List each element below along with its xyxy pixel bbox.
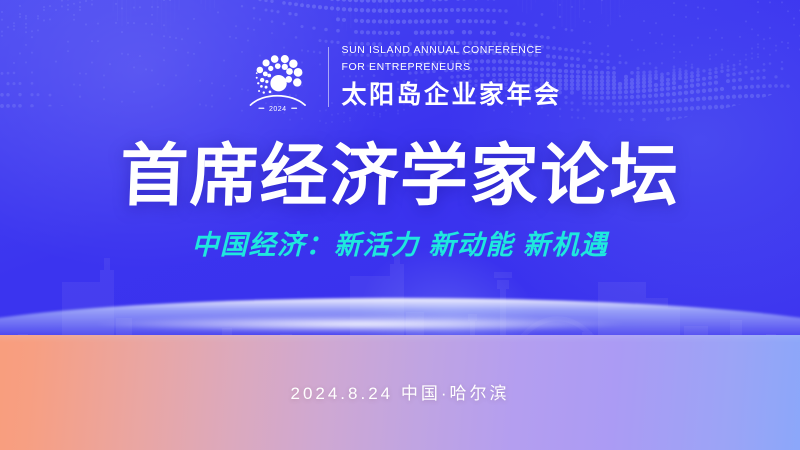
conference-poster: 2024 SUN ISLAND ANNUAL CONFERENCE FOR EN…	[0, 0, 800, 450]
logo-year-text: 2024	[270, 106, 287, 113]
page-subtitle: 中国经济：新活力 新动能 新机遇	[0, 228, 800, 262]
event-date-location: 2024.8.24 中国·哈尔滨	[0, 383, 800, 405]
chinese-brand-name: 太阳岛企业家年会	[341, 80, 561, 110]
english-title-line-2: FOR ENTREPRENEURS	[341, 61, 561, 74]
stage-center-glow	[96, 316, 624, 332]
brand-lockup: 2024 SUN ISLAND ANNUAL CONFERENCE FOR EN…	[0, 38, 800, 116]
lockup-text-block: SUN ISLAND ANNUAL CONFERENCE FOR ENTREPR…	[341, 44, 561, 110]
english-title-line-1: SUN ISLAND ANNUAL CONFERENCE	[341, 44, 561, 57]
lockup-divider	[328, 47, 329, 107]
page-title: 首席经济学家论坛	[0, 140, 800, 214]
sun-island-dot-spiral-logo: 2024	[238, 38, 316, 116]
